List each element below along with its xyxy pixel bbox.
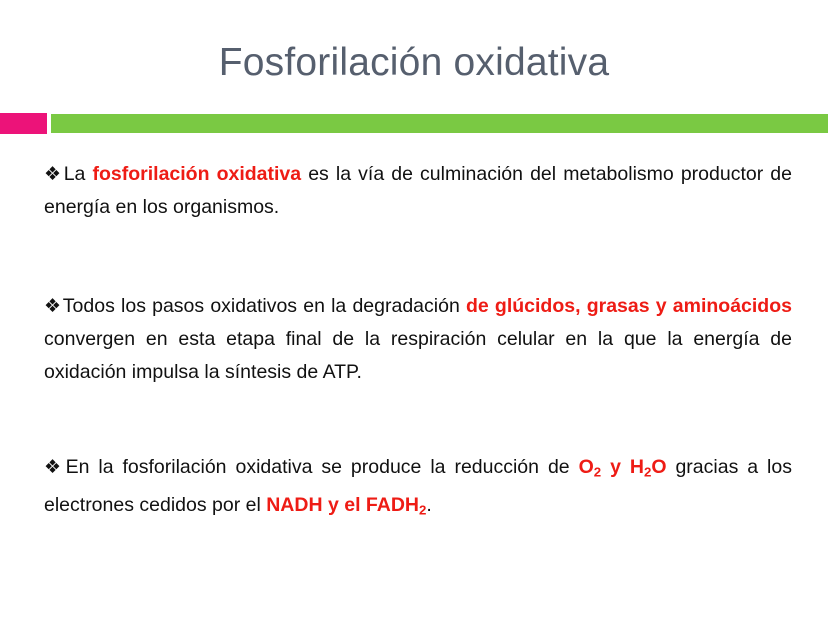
formula-o2: O2 y H2O — [579, 456, 667, 478]
bullet-paragraph-2: ❖Todos los pasos oxidativos en la degrad… — [44, 290, 792, 389]
bullet-diamond-icon: ❖ — [44, 456, 65, 478]
formula-h2o-o: O — [651, 456, 666, 478]
formula-nadh-fadh2: NADH y el FADH2 — [266, 494, 426, 516]
bullet-3-segment-plain-1: En la fosforilación oxidativa se produce… — [66, 456, 579, 478]
bullet-diamond-icon: ❖ — [44, 295, 62, 317]
divider-green-bar — [51, 114, 828, 133]
slide-body: ❖La fosforilación oxidativa es la vía de… — [44, 158, 792, 526]
page-title: Fosforilación oxidativa — [0, 40, 828, 86]
bullet-2-segment-plain-1: Todos los pasos oxidativos en la degrada… — [63, 295, 466, 317]
formula-o2-base: O — [579, 456, 594, 478]
bullet-2-segment-plain-2: convergen en esta etapa final de la resp… — [44, 328, 792, 383]
formula-conjunction: y — [601, 456, 630, 478]
bullet-2-segment-highlight: de glúcidos, grasas y aminoácidos — [466, 295, 792, 317]
bullet-paragraph-1: ❖La fosforilación oxidativa es la vía de… — [44, 158, 792, 224]
bullet-1-segment-highlight: fosforilación oxidativa — [92, 163, 301, 185]
formula-h2o-h: H — [630, 456, 644, 478]
bullet-3-period: . — [426, 494, 431, 516]
bullet-paragraph-3: ❖En la fosforilación oxidativa se produc… — [44, 451, 792, 526]
formula-nadh-base: NADH y el FADH — [266, 494, 419, 516]
title-divider — [0, 113, 828, 134]
slide-canvas: Fosforilación oxidativa ❖La fosforilació… — [0, 0, 828, 621]
bullet-1-segment-plain-1: La — [64, 163, 93, 185]
divider-accent-block — [0, 113, 47, 134]
bullet-diamond-icon: ❖ — [44, 163, 63, 185]
